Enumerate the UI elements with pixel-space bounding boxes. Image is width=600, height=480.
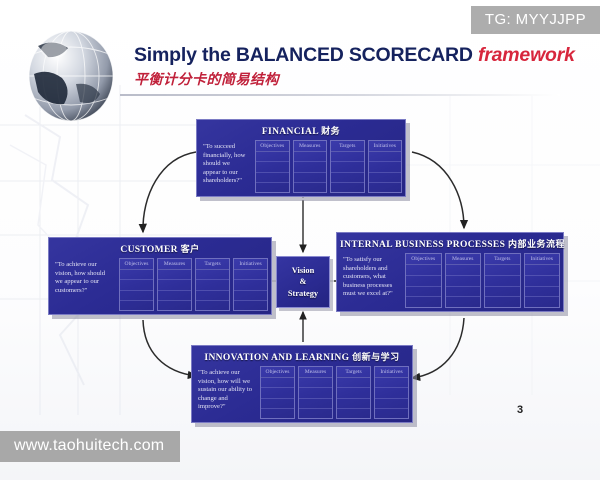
grid-rows: [331, 152, 364, 192]
grid-cell[interactable]: [485, 287, 520, 298]
grid-cell[interactable]: [294, 152, 327, 162]
grid-cell[interactable]: [299, 388, 332, 398]
grid-cell[interactable]: [256, 152, 289, 162]
grid-column-header: Objectives: [256, 141, 289, 152]
grid-cell[interactable]: [196, 301, 229, 310]
grid-column-header: Initiatives: [375, 367, 408, 378]
grid-column[interactable]: Targets: [336, 366, 371, 419]
grid-column[interactable]: Measures: [157, 258, 192, 311]
grid-cell[interactable]: [331, 152, 364, 162]
grid-cell[interactable]: [261, 399, 294, 409]
perspective-body: "To achieve our vision, how will we sust…: [195, 366, 409, 419]
grid-cell[interactable]: [158, 280, 191, 290]
header-title-block: Simply the BALANCED SCORECARD framework …: [134, 44, 564, 89]
grid-cell[interactable]: [446, 276, 481, 287]
grid-cell[interactable]: [261, 388, 294, 398]
vision-line-3: Strategy: [288, 288, 318, 300]
grid-cell[interactable]: [375, 399, 408, 409]
grid-column[interactable]: Objectives: [255, 140, 290, 193]
perspective-title-innovation: INNOVATION AND LEARNING 创新与学习: [195, 348, 409, 366]
grid-cell[interactable]: [446, 265, 481, 276]
grid-column[interactable]: Initiatives: [233, 258, 268, 311]
grid-cell[interactable]: [196, 280, 229, 290]
grid-cell[interactable]: [406, 265, 441, 276]
perspective-question-innovation: "To achieve our vision, how will we sust…: [195, 366, 257, 419]
grid-rows: [234, 270, 267, 310]
header-divider: [120, 94, 560, 96]
grid-rows: [158, 270, 191, 310]
grid-cell[interactable]: [375, 409, 408, 418]
grid-cell[interactable]: [369, 152, 402, 162]
grid-cell[interactable]: [294, 162, 327, 172]
grid-column-header: Measures: [294, 141, 327, 152]
globe-icon: [24, 24, 120, 128]
perspective-grid-internal: Objectives Measures Targets Initiatives: [405, 253, 560, 308]
perspective-body: "To satisfy our shareholders and custome…: [340, 253, 560, 308]
grid-cell[interactable]: [369, 183, 402, 192]
grid-cell[interactable]: [406, 297, 441, 307]
perspective-grid-innovation: Objectives Measures Targets Initiatives: [260, 366, 409, 419]
grid-cell[interactable]: [234, 301, 267, 310]
grid-rows: [375, 378, 408, 418]
grid-rows: [196, 270, 229, 310]
grid-column[interactable]: Measures: [445, 253, 482, 308]
grid-column[interactable]: Objectives: [260, 366, 295, 419]
grid-cell[interactable]: [261, 409, 294, 418]
grid-column[interactable]: Targets: [484, 253, 521, 308]
grid-cell[interactable]: [234, 270, 267, 280]
grid-column-header: Targets: [196, 259, 229, 270]
perspective-title-cn: 客户: [181, 245, 200, 255]
perspective-question-customer: "To achieve our vision, how should we ap…: [52, 258, 116, 311]
grid-rows: [294, 152, 327, 192]
vision-line-1: Vision: [292, 265, 315, 277]
perspective-title-customer: CUSTOMER 客户: [52, 240, 268, 258]
grid-column[interactable]: Measures: [293, 140, 328, 193]
perspective-title-financial: FINANCIAL 财务: [200, 122, 402, 140]
vision-strategy-box[interactable]: Vision & Strategy: [276, 256, 330, 308]
grid-column-header: Targets: [485, 254, 520, 265]
grid-column-header: Initiatives: [234, 259, 267, 270]
grid-cell[interactable]: [331, 162, 364, 172]
grid-cell[interactable]: [337, 409, 370, 418]
grid-column[interactable]: Objectives: [119, 258, 154, 311]
page-subtitle: 平衡计分卡的简易结构: [134, 69, 564, 89]
grid-rows: [299, 378, 332, 418]
grid-cell[interactable]: [446, 297, 481, 307]
grid-rows: [256, 152, 289, 192]
grid-cell[interactable]: [525, 276, 560, 287]
grid-cell[interactable]: [406, 276, 441, 287]
grid-cell[interactable]: [337, 388, 370, 398]
grid-column-header: Measures: [446, 254, 481, 265]
grid-rows: [261, 378, 294, 418]
site-watermark: www.taohuitech.com: [0, 431, 180, 462]
grid-column[interactable]: Targets: [195, 258, 230, 311]
grid-cell[interactable]: [369, 173, 402, 183]
grid-cell[interactable]: [525, 287, 560, 298]
grid-cell[interactable]: [158, 301, 191, 310]
grid-cell[interactable]: [485, 276, 520, 287]
telegram-watermark: TG: MYYJJPP: [471, 6, 600, 34]
grid-rows: [337, 378, 370, 418]
grid-cell[interactable]: [331, 173, 364, 183]
perspective-title-cn: 内部业务流程: [508, 240, 565, 250]
grid-cell[interactable]: [261, 378, 294, 388]
perspective-question-internal: "To satisfy our shareholders and custome…: [340, 253, 402, 308]
grid-cell[interactable]: [120, 301, 153, 310]
grid-cell[interactable]: [196, 291, 229, 301]
grid-cell[interactable]: [369, 162, 402, 172]
grid-cell[interactable]: [294, 173, 327, 183]
grid-cell[interactable]: [256, 173, 289, 183]
grid-column-header: Initiatives: [525, 254, 560, 265]
grid-cell[interactable]: [375, 388, 408, 398]
grid-column-header: Measures: [299, 367, 332, 378]
perspective-title-en: INNOVATION AND LEARNING: [204, 353, 349, 363]
grid-cell[interactable]: [120, 291, 153, 301]
perspective-question-financial: "To succeed financially, how should we a…: [200, 140, 252, 193]
grid-cell[interactable]: [446, 287, 481, 298]
perspective-title-cn: 财务: [321, 127, 340, 137]
grid-cell[interactable]: [120, 280, 153, 290]
grid-cell[interactable]: [196, 270, 229, 280]
grid-cell[interactable]: [234, 280, 267, 290]
grid-column[interactable]: Initiatives: [368, 140, 403, 193]
grid-rows: [120, 270, 153, 310]
grid-cell[interactable]: [299, 378, 332, 388]
grid-cell[interactable]: [256, 162, 289, 172]
grid-cell[interactable]: [120, 270, 153, 280]
grid-column[interactable]: Targets: [330, 140, 365, 193]
title-accent: framework: [478, 44, 575, 66]
grid-cell[interactable]: [158, 291, 191, 301]
grid-cell[interactable]: [299, 399, 332, 409]
page-number: 3: [517, 404, 523, 416]
grid-column-header: Targets: [337, 367, 370, 378]
grid-cell[interactable]: [485, 297, 520, 307]
grid-cell[interactable]: [525, 297, 560, 307]
slide-canvas: Simply the BALANCED SCORECARD framework …: [0, 0, 600, 480]
grid-column-header: Measures: [158, 259, 191, 270]
perspective-title-cn: 创新与学习: [352, 353, 400, 363]
page-title: Simply the BALANCED SCORECARD framework: [134, 44, 564, 66]
grid-column[interactable]: Initiatives: [374, 366, 409, 419]
grid-cell[interactable]: [294, 183, 327, 192]
perspective-grid-financial: Objectives Measures Targets Initiatives: [255, 140, 402, 193]
grid-rows: [406, 265, 441, 307]
grid-cell[interactable]: [331, 183, 364, 192]
grid-column[interactable]: Measures: [298, 366, 333, 419]
grid-column-header: Initiatives: [369, 141, 402, 152]
grid-cell[interactable]: [406, 287, 441, 298]
perspective-box-financial[interactable]: FINANCIAL 财务 "To succeed financially, ho…: [196, 119, 406, 197]
grid-cell[interactable]: [337, 399, 370, 409]
grid-rows: [369, 152, 402, 192]
perspective-box-internal-business-processes[interactable]: INTERNAL BUSINESS PROCESSES 内部业务流程 "To s…: [336, 232, 564, 312]
grid-column-header: Objectives: [406, 254, 441, 265]
grid-cell[interactable]: [234, 291, 267, 301]
grid-rows: [446, 265, 481, 307]
grid-cell[interactable]: [485, 265, 520, 276]
perspective-title-en: FINANCIAL: [262, 127, 318, 137]
perspective-box-innovation-and-learning[interactable]: INNOVATION AND LEARNING 创新与学习 "To achiev…: [191, 345, 413, 423]
perspective-body: "To succeed financially, how should we a…: [200, 140, 402, 193]
perspective-box-customer[interactable]: CUSTOMER 客户 "To achieve our vision, how …: [48, 237, 272, 315]
grid-rows: [525, 265, 560, 307]
perspective-title-en: INTERNAL BUSINESS PROCESSES: [340, 240, 505, 250]
grid-cell[interactable]: [525, 265, 560, 276]
perspective-body: "To achieve our vision, how should we ap…: [52, 258, 268, 311]
grid-cell[interactable]: [337, 378, 370, 388]
grid-column-header: Targets: [331, 141, 364, 152]
vision-line-2: &: [300, 276, 307, 288]
grid-column[interactable]: Objectives: [405, 253, 442, 308]
grid-cell[interactable]: [158, 270, 191, 280]
grid-column-header: Objectives: [261, 367, 294, 378]
grid-cell[interactable]: [299, 409, 332, 418]
title-prefix: Simply the BALANCED SCORECARD: [134, 44, 473, 66]
perspective-grid-customer: Objectives Measures Targets Initiatives: [119, 258, 268, 311]
grid-column[interactable]: Initiatives: [524, 253, 561, 308]
grid-rows: [485, 265, 520, 307]
grid-cell[interactable]: [375, 378, 408, 388]
grid-column-header: Objectives: [120, 259, 153, 270]
perspective-title-internal: INTERNAL BUSINESS PROCESSES 内部业务流程: [340, 235, 560, 253]
grid-cell[interactable]: [256, 183, 289, 192]
perspective-title-en: CUSTOMER: [120, 245, 178, 255]
